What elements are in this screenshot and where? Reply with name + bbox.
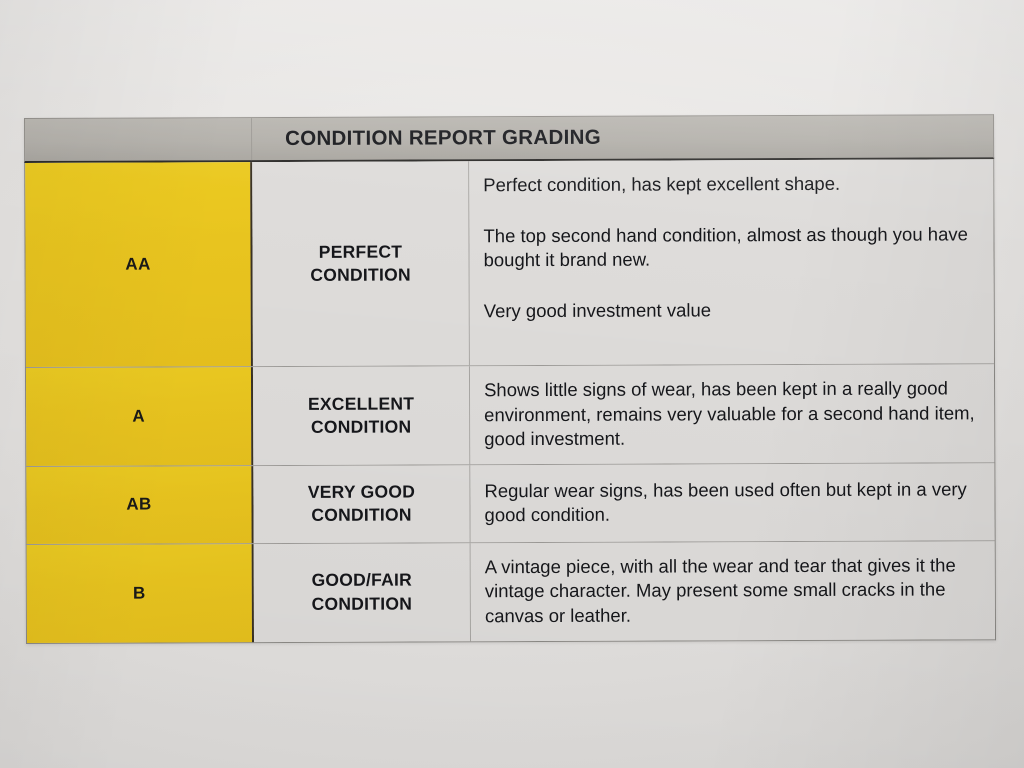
description-paragraph: Very good investment value [484, 297, 976, 323]
table-header-spacer [25, 118, 252, 161]
condition-description-aa: Perfect condition, has kept excellent sh… [469, 159, 994, 365]
page-title: CONDITION REPORT GRADING [252, 124, 993, 151]
condition-description-a: Shows little signs of wear, has been kep… [470, 364, 994, 464]
condition-title-line1: EXCELLENT [308, 393, 414, 413]
condition-title-line2: CONDITION [312, 593, 413, 613]
photographed-paper-sheet: CONDITION REPORT GRADING AA PERFECT COND… [0, 0, 1024, 768]
condition-title-line2: CONDITION [311, 505, 412, 525]
description-paragraph: Perfect condition, has kept excellent sh… [483, 171, 975, 197]
condition-description-b: A vintage piece, with all the wear and t… [471, 541, 995, 641]
condition-title-line2: CONDITION [310, 265, 411, 285]
grade-code-a: A [26, 367, 253, 466]
description-paragraph: Regular wear signs, has been used often … [484, 477, 976, 528]
description-paragraph: A vintage piece, with all the wear and t… [485, 553, 977, 629]
table-row: B GOOD/FAIR CONDITION A vintage piece, w… [27, 541, 995, 642]
condition-title-aa: PERFECT CONDITION [252, 161, 470, 366]
grade-code-b: B [27, 544, 254, 643]
condition-title-ab: VERY GOOD CONDITION [253, 465, 470, 543]
description-paragraph: Shows little signs of wear, has been kep… [484, 376, 976, 452]
table-row: AB VERY GOOD CONDITION Regular wear sign… [26, 463, 994, 545]
table-body: AA PERFECT CONDITION Perfect condition, … [24, 159, 996, 643]
table-header-bar: CONDITION REPORT GRADING [24, 114, 994, 163]
condition-title-line1: PERFECT [319, 241, 403, 261]
description-paragraph: The top second hand condition, almost as… [483, 222, 975, 273]
condition-description-ab: Regular wear signs, has been used often … [470, 463, 994, 542]
grade-code-ab: AB [26, 466, 253, 544]
table-row: AA PERFECT CONDITION Perfect condition, … [25, 159, 994, 368]
condition-report-grading-table: CONDITION REPORT GRADING AA PERFECT COND… [24, 114, 996, 643]
condition-title-line1: GOOD/FAIR [312, 570, 413, 590]
condition-title-b: GOOD/FAIR CONDITION [254, 543, 471, 642]
condition-title-line1: VERY GOOD [308, 482, 415, 502]
condition-title-line2: CONDITION [311, 416, 412, 436]
condition-title-a: EXCELLENT CONDITION [253, 366, 470, 465]
grade-code-aa: AA [25, 162, 253, 367]
table-row: A EXCELLENT CONDITION Shows little signs… [26, 364, 994, 466]
